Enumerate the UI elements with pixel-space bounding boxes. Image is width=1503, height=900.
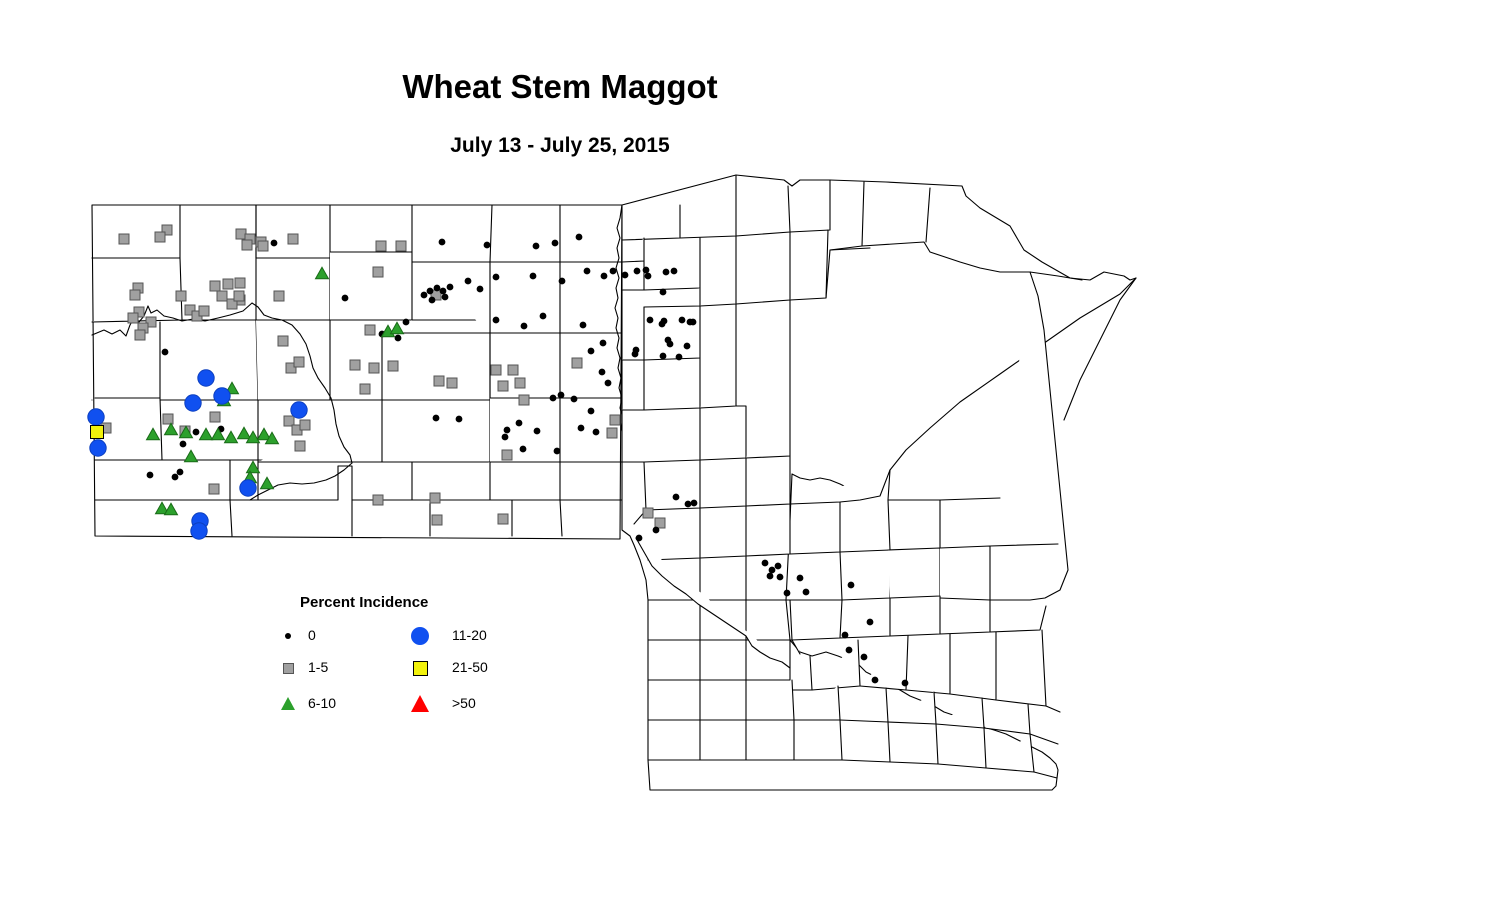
map-marker-0 [797, 575, 803, 581]
map-marker-0 [540, 313, 546, 319]
map-marker-0 [673, 494, 679, 500]
map-marker-1-5 [498, 381, 508, 391]
legend-label-21-50: 21-50 [452, 659, 488, 675]
map-marker-0 [533, 243, 539, 249]
map-marker-0 [552, 240, 558, 246]
map-marker-0 [676, 354, 682, 360]
map-marker-0 [456, 416, 462, 422]
map-marker-1-5 [447, 378, 457, 388]
map-marker-0 [534, 428, 540, 434]
map-marker-0 [762, 560, 768, 566]
map-marker-0 [172, 474, 178, 480]
map-marker-1-5 [373, 267, 383, 277]
map-marker-0 [465, 278, 471, 284]
map-marker-1-5 [278, 336, 288, 346]
map-marker-1-5 [610, 415, 620, 425]
incidence-map [0, 0, 1503, 900]
map-marker-1-5 [128, 313, 138, 323]
map-marker-0 [180, 441, 186, 447]
map-marker-0 [442, 294, 448, 300]
map-marker-1-5 [300, 420, 310, 430]
legend-label->50: >50 [452, 695, 476, 711]
map-marker-1-5 [163, 414, 173, 424]
map-marker-0 [769, 567, 775, 573]
legend-label-1-5: 1-5 [308, 659, 328, 675]
map-marker-0 [433, 415, 439, 421]
map-marker-1-5 [135, 330, 145, 340]
legend-label-6-10: 6-10 [308, 695, 336, 711]
map-marker-0 [421, 292, 427, 298]
map-marker-0 [842, 632, 848, 638]
map-marker-0 [600, 340, 606, 346]
legend-label-11-20: 11-20 [452, 627, 487, 643]
map-marker-0 [622, 272, 628, 278]
map-marker-0 [403, 319, 409, 325]
map-marker-0 [193, 429, 199, 435]
map-marker-0 [162, 349, 168, 355]
map-marker-0 [550, 395, 556, 401]
legend-symbol-blue-circle [411, 627, 429, 645]
map-marker-0 [775, 563, 781, 569]
map-marker-0 [588, 348, 594, 354]
map-marker-1-5 [199, 306, 209, 316]
map-marker-0 [571, 396, 577, 402]
map-marker-1-5 [643, 508, 653, 518]
map-marker-0 [632, 351, 638, 357]
map-marker-0 [530, 273, 536, 279]
map-marker-1-5 [155, 232, 165, 242]
map-marker-1-5 [376, 241, 386, 251]
map-marker-1-5 [288, 234, 298, 244]
map-marker-1-5 [491, 365, 501, 375]
map-marker-0 [554, 448, 560, 454]
map-marker-0 [848, 582, 854, 588]
map-marker-1-5 [294, 357, 304, 367]
map-marker-1-5 [119, 234, 129, 244]
map-marker-0 [671, 268, 677, 274]
map-marker-0 [576, 234, 582, 240]
map-marker-1-5 [502, 450, 512, 460]
map-marker-1-5 [350, 360, 360, 370]
map-marker-0 [504, 427, 510, 433]
map-marker-0 [685, 501, 691, 507]
map-marker-1-5 [432, 515, 442, 525]
map-marker-0 [647, 317, 653, 323]
legend-symbol-red-triangle [411, 695, 429, 712]
map-marker-1-5 [519, 395, 529, 405]
map-marker-1-5 [130, 290, 140, 300]
map-marker-1-5 [217, 291, 227, 301]
map-page: Wheat Stem Maggot July 13 - July 25, 201… [0, 0, 1503, 900]
map-marker-0 [520, 446, 526, 452]
map-marker-0 [610, 268, 616, 274]
legend-label-0: 0 [308, 627, 316, 643]
map-marker-1-5 [242, 240, 252, 250]
map-marker-1-5 [295, 441, 305, 451]
map-marker-0 [559, 278, 565, 284]
map-marker-11-20 [198, 370, 214, 386]
map-marker-11-20 [240, 480, 256, 496]
map-marker-0 [584, 268, 590, 274]
map-marker-0 [653, 527, 659, 533]
map-marker-0 [684, 343, 690, 349]
map-marker-1-5 [258, 241, 268, 251]
map-marker-1-5 [360, 384, 370, 394]
map-marker-0 [427, 288, 433, 294]
map-marker-1-5 [388, 361, 398, 371]
map-marker-11-20 [90, 440, 106, 456]
legend-title: Percent Incidence [300, 594, 428, 611]
map-marker-0 [440, 288, 446, 294]
legend-symbol-yellow-square [413, 661, 428, 676]
map-marker-0 [429, 297, 435, 303]
map-marker-0 [395, 335, 401, 341]
map-marker-0 [439, 239, 445, 245]
map-marker-0 [784, 590, 790, 596]
map-marker-1-5 [223, 279, 233, 289]
map-marker-0 [147, 472, 153, 478]
map-marker-0 [846, 647, 852, 653]
map-marker-1-5 [396, 241, 406, 251]
map-marker-1-5 [498, 514, 508, 524]
map-marker-1-5 [515, 378, 525, 388]
map-marker-0 [601, 273, 607, 279]
map-marker-0 [691, 500, 697, 506]
map-marker-0 [767, 573, 773, 579]
map-marker-1-5 [209, 484, 219, 494]
map-marker-1-5 [369, 363, 379, 373]
map-marker-0 [902, 680, 908, 686]
map-marker-0 [493, 317, 499, 323]
map-marker-1-5 [210, 281, 220, 291]
map-marker-21-50 [91, 426, 104, 439]
map-marker-0 [663, 269, 669, 275]
map-marker-0 [777, 574, 783, 580]
map-marker-1-5 [607, 428, 617, 438]
map-marker-0 [493, 274, 499, 280]
map-marker-0 [558, 392, 564, 398]
map-marker-0 [580, 322, 586, 328]
map-marker-0 [578, 425, 584, 431]
map-marker-0 [690, 319, 696, 325]
map-marker-0 [667, 341, 673, 347]
legend-symbol-green-triangle [281, 697, 295, 710]
map-marker-0 [593, 429, 599, 435]
map-marker-1-5 [365, 325, 375, 335]
map-marker-0 [634, 268, 640, 274]
map-marker-0 [660, 289, 666, 295]
map-marker-11-20 [214, 388, 230, 404]
map-marker-1-5 [430, 493, 440, 503]
map-marker-0 [271, 240, 277, 246]
map-marker-1-5 [655, 518, 665, 528]
map-marker-11-20 [191, 523, 207, 539]
map-marker-0 [434, 285, 440, 291]
map-marker-0 [521, 323, 527, 329]
map-marker-1-5 [274, 291, 284, 301]
map-marker-0 [447, 284, 453, 290]
legend-symbol-gray-square [283, 663, 294, 674]
map-marker-1-5 [210, 412, 220, 422]
map-marker-1-5 [234, 291, 244, 301]
map-marker-1-5 [176, 291, 186, 301]
map-marker-0 [645, 273, 651, 279]
map-marker-0 [803, 589, 809, 595]
map-marker-0 [867, 619, 873, 625]
map-marker-1-5 [572, 358, 582, 368]
map-marker-0 [679, 317, 685, 323]
map-marker-0 [477, 286, 483, 292]
map-marker-0 [872, 677, 878, 683]
map-marker-0 [661, 318, 667, 324]
map-marker-0 [342, 295, 348, 301]
map-marker-1-5 [235, 278, 245, 288]
map-marker-1-5 [508, 365, 518, 375]
map-marker-1-5 [373, 495, 383, 505]
map-marker-0 [643, 267, 649, 273]
map-marker-11-20 [291, 402, 307, 418]
map-marker-0 [861, 654, 867, 660]
map-marker-0 [516, 420, 522, 426]
map-marker-0 [599, 369, 605, 375]
map-marker-0 [660, 353, 666, 359]
map-marker-0 [636, 535, 642, 541]
map-marker-0 [502, 434, 508, 440]
map-marker-11-20 [185, 395, 201, 411]
map-marker-11-20 [88, 409, 104, 425]
map-marker-0 [605, 380, 611, 386]
map-marker-0 [484, 242, 490, 248]
map-marker-1-5 [434, 376, 444, 386]
map-marker-0 [588, 408, 594, 414]
map-marker-0 [177, 469, 183, 475]
